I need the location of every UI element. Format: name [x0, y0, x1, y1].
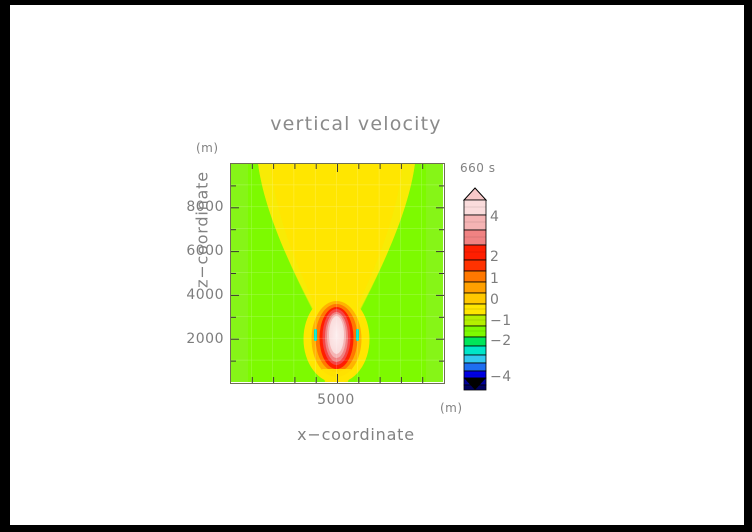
contour-field-svg [230, 163, 443, 382]
colorbar-tick-1: 1 [490, 271, 499, 287]
colorbar-tick-0: 0 [490, 292, 499, 308]
colorbar-tick-minus1: −1 [490, 313, 512, 329]
screenshot-root: vertical velocity (m) 660 s z−coordinate [0, 0, 752, 532]
contour-plot-figure: vertical velocity (m) 660 s z−coordinate [10, 5, 744, 525]
y-axis-ticks: 2000 4000 6000 8000 [148, 163, 224, 382]
x-tick-5000: 5000 [291, 392, 381, 408]
figure-page: vertical velocity (m) 660 s z−coordinate [10, 5, 744, 525]
y-tick-6000: 6000 [154, 243, 224, 259]
contour-field [230, 163, 443, 382]
colorbar-tick-2: 2 [490, 249, 499, 265]
y-tick-4000: 4000 [154, 287, 224, 303]
timestamp-label: 660 s [460, 161, 495, 175]
colorbar-tick-minus2: −2 [490, 333, 512, 349]
colorbar-tick-4: 4 [490, 209, 499, 225]
y-tick-2000: 2000 [154, 331, 224, 347]
page-title: vertical velocity [256, 113, 456, 135]
x-axis-units: (m) [440, 401, 463, 415]
colorbar: 4 2 1 0 −1 −2 −4 [462, 187, 532, 391]
x-axis-label: x−coordinate [256, 425, 456, 444]
colorbar-tick-minus4: −4 [490, 369, 512, 385]
colorbar-swatches [462, 187, 488, 391]
x-axis-ticks: 5000 [230, 387, 443, 411]
y-tick-8000: 8000 [154, 199, 224, 215]
